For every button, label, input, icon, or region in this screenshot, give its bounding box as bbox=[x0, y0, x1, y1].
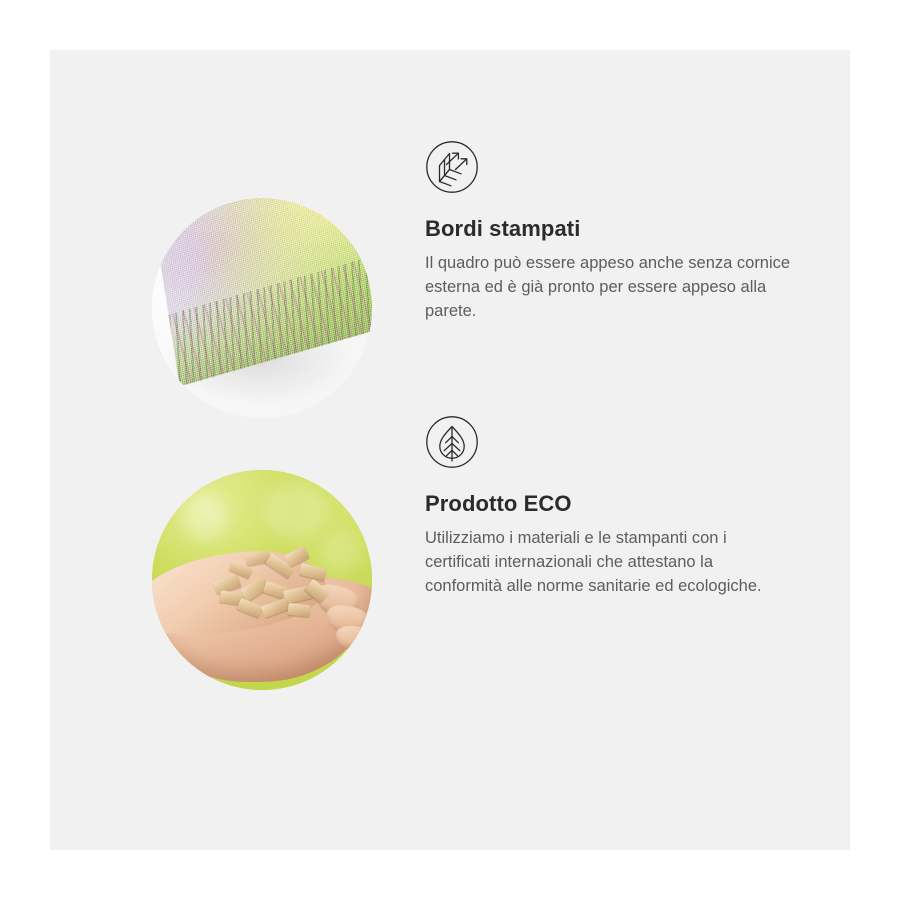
printed-canvas-corner-photo bbox=[152, 198, 372, 418]
feature-description: Utilizziamo i materiali e le stampanti c… bbox=[425, 527, 793, 599]
canvas-photo-background bbox=[152, 198, 372, 418]
feature-eco-product: Prodotto ECO Utilizziamo i materiali e l… bbox=[100, 415, 800, 705]
feature-eco-product-body: Prodotto ECO Utilizziamo i materiali e l… bbox=[425, 415, 800, 599]
feature-printed-edges-body: Bordi stampati Il quadro può essere appe… bbox=[425, 140, 800, 324]
feature-heading: Prodotto ECO bbox=[425, 491, 800, 517]
bokeh-highlight bbox=[182, 494, 228, 540]
product-feature-infographic: Bordi stampati Il quadro può essere appe… bbox=[0, 0, 900, 900]
canvas-edge-print-icon bbox=[425, 140, 479, 194]
hands-with-wood-chips-photo bbox=[152, 470, 372, 690]
feature-description: Il quadro può essere appeso anche senza … bbox=[425, 252, 793, 324]
eco-photo-background bbox=[152, 470, 372, 690]
bokeh-highlight bbox=[264, 482, 326, 540]
feature-heading: Bordi stampati bbox=[425, 216, 800, 242]
leaf-icon bbox=[425, 415, 479, 469]
wood-chip-pile bbox=[208, 548, 332, 620]
feature-printed-edges: Bordi stampati Il quadro può essere appe… bbox=[100, 140, 800, 430]
